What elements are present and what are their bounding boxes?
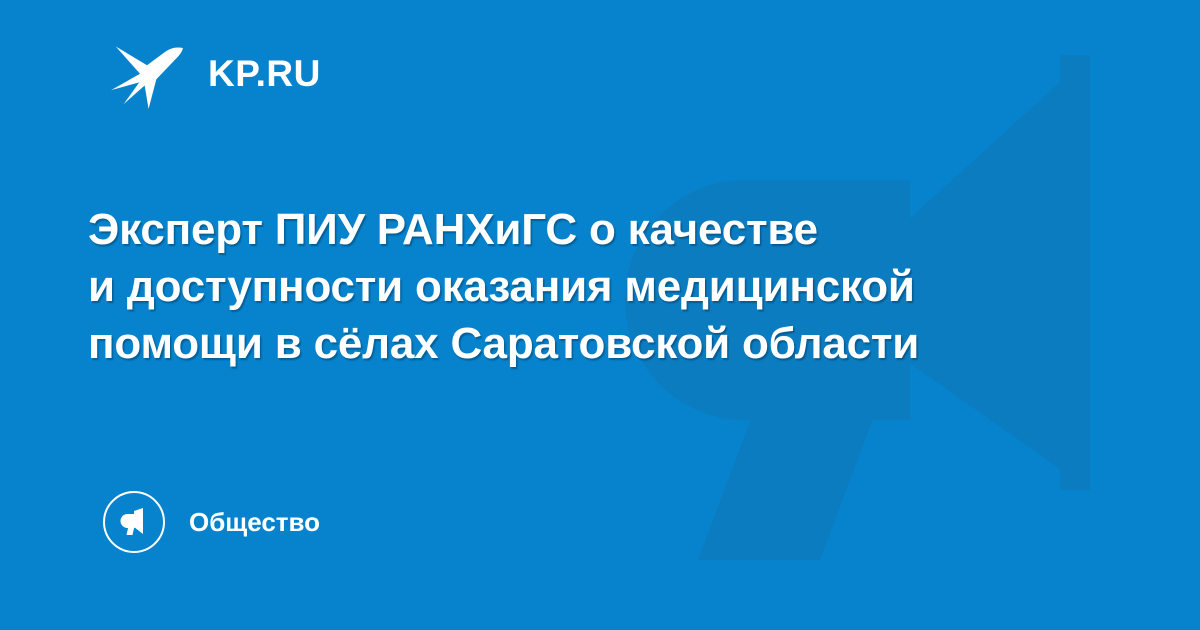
brand-name-label: KP.RU bbox=[208, 55, 321, 92]
brand-logo[interactable]: KP.RU bbox=[108, 34, 321, 112]
headline-line-3: помощи в сёлах Саратовской области bbox=[88, 315, 1088, 372]
megaphone-icon bbox=[117, 505, 151, 539]
headline-line-1: Эксперт ПИУ РАНХиГС о качестве bbox=[88, 201, 1088, 258]
social-share-card: KP.RU Эксперт ПИУ РАНХиГС о качестве и д… bbox=[0, 0, 1200, 630]
swallow-bird-icon bbox=[108, 34, 186, 112]
headline: Эксперт ПИУ РАНХиГС о качестве и доступн… bbox=[88, 201, 1088, 372]
category-badge[interactable]: Общество bbox=[103, 491, 320, 553]
headline-line-2: и доступности оказания медицинской bbox=[88, 258, 1088, 315]
category-label: Общество bbox=[189, 509, 320, 535]
category-icon-circle bbox=[103, 491, 165, 553]
